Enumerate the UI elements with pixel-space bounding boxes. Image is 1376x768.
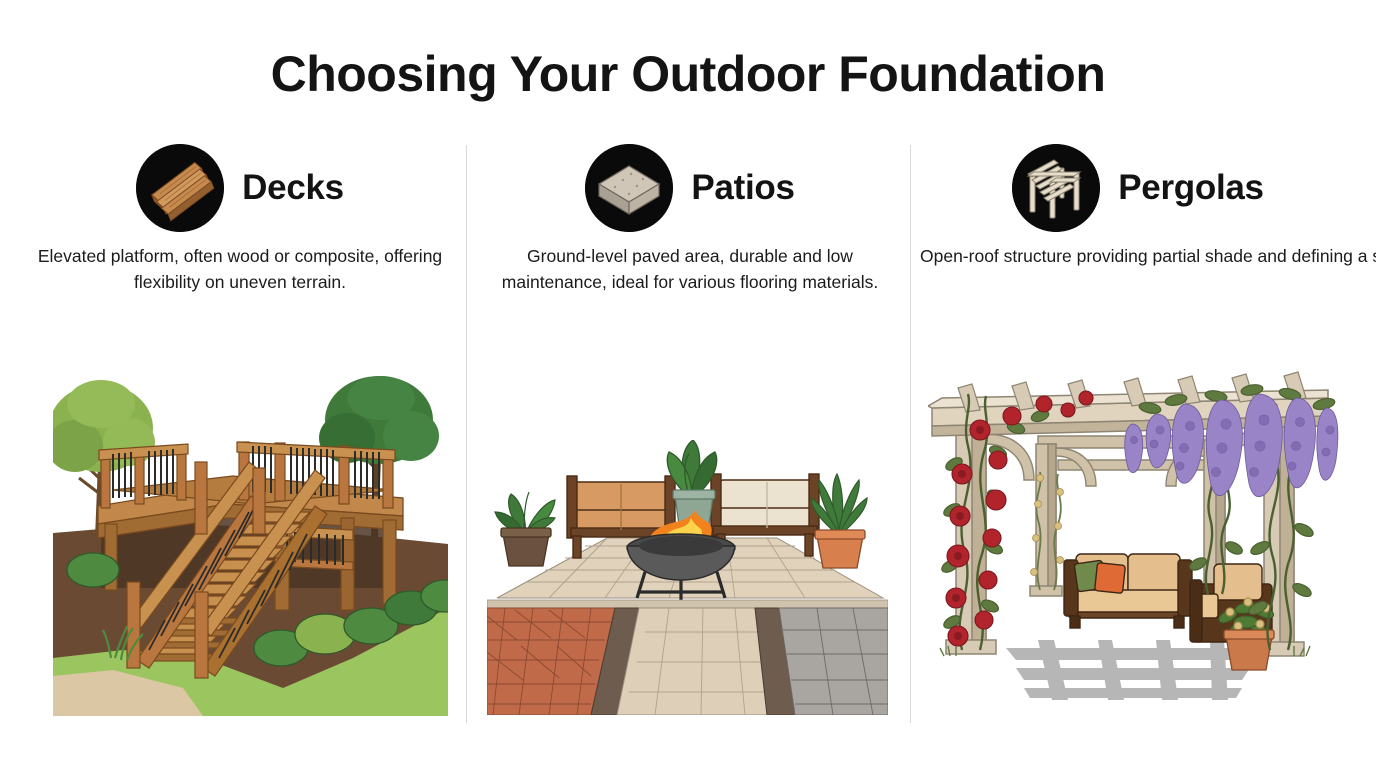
column-divider-1 [466,145,467,723]
pergolas-header: Pergolas [918,140,1358,236]
pergolas-illustration [928,368,1340,716]
infographic-page: Choosing Your Outdoor Foundation [0,0,1376,768]
page-title: Choosing Your Outdoor Foundation [0,48,1376,101]
column-decks: Decks Elevated platform, often wood or c… [20,140,460,296]
deck-boards-icon [136,144,224,232]
paver-slab-icon [585,144,673,232]
patios-header: Patios [478,140,902,236]
decks-description: Elevated platform, often wood or composi… [20,244,460,296]
column-pergolas: Pergolas Open-roof structure providing p… [918,140,1358,270]
decks-title: Decks [242,168,344,208]
patios-title: Patios [691,168,794,208]
decks-illustration [53,358,448,716]
pergolas-title: Pergolas [1118,168,1263,208]
pergola-frame-icon [1012,144,1100,232]
pergolas-description: Open-roof structure providing partial sh… [918,244,1358,270]
patios-description: Ground-level paved area, durable and low… [478,244,902,296]
column-patios: Patios Ground-level paved area, durable … [478,140,902,296]
column-divider-2 [910,145,911,723]
patios-illustration [487,440,888,715]
decks-header: Decks [20,140,460,236]
